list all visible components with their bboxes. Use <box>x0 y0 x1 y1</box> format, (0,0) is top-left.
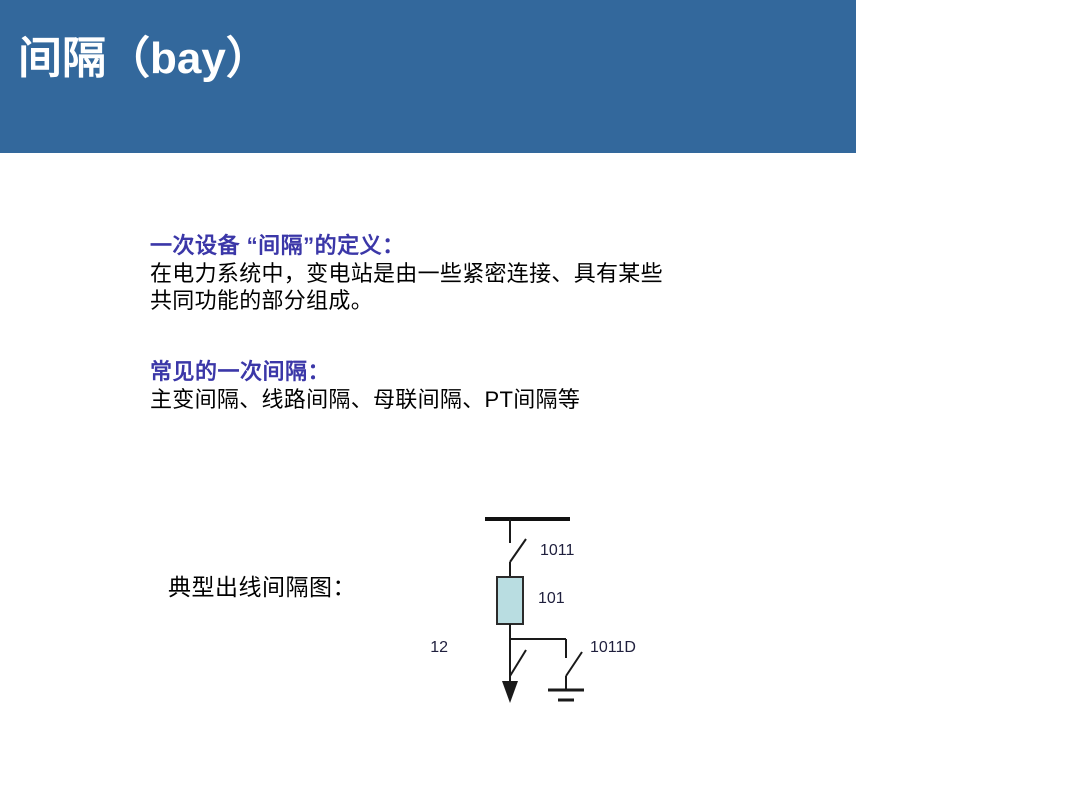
disconnector-1012-blade <box>510 650 526 676</box>
label-1011D: 1011D <box>590 639 636 656</box>
page-title: 间隔（bay） <box>18 31 270 87</box>
body-line: 共同功能的部分组成。 <box>150 287 910 314</box>
diagram-caption: 典型出线间隔图： <box>168 568 356 602</box>
slide-body-content: 一次设备 “间隔”的定义： 在电力系统中，变电站是由一些紧密连接、具有某些 共同… <box>150 232 910 413</box>
single-line-diagram: 1011 101 1012 1011D <box>430 500 720 715</box>
body-line: 在电力系统中，变电站是由一些紧密连接、具有某些 <box>150 260 910 287</box>
disconnector-1011-blade <box>510 539 526 562</box>
typical-feeder-bay-diagram: 典型出线间隔图： <box>160 500 720 730</box>
outgoing-feeder-arrow <box>502 681 518 703</box>
section-common-bays-heading: 常见的一次间隔： <box>150 358 910 386</box>
label-1012: 1012 <box>430 639 448 656</box>
section-spacer <box>150 314 910 358</box>
section-definition: 一次设备 “间隔”的定义： 在电力系统中，变电站是由一些紧密连接、具有某些 共同… <box>150 232 910 314</box>
slide-title-banner: 间隔（bay） <box>0 0 856 153</box>
section-common-bays-body: 主变间隔、线路间隔、母联间隔、PT间隔等 <box>150 386 910 413</box>
section-definition-heading: 一次设备 “间隔”的定义： <box>150 232 910 260</box>
label-101: 101 <box>538 590 565 607</box>
label-1011: 1011 <box>540 542 575 559</box>
earthing-switch-1011D-blade <box>566 652 582 676</box>
section-common-bays: 常见的一次间隔： 主变间隔、线路间隔、母联间隔、PT间隔等 <box>150 358 910 413</box>
circuit-breaker-101-symbol <box>497 577 523 624</box>
section-definition-body: 在电力系统中，变电站是由一些紧密连接、具有某些 共同功能的部分组成。 <box>150 260 910 314</box>
body-line: 主变间隔、线路间隔、母联间隔、PT间隔等 <box>150 386 910 413</box>
